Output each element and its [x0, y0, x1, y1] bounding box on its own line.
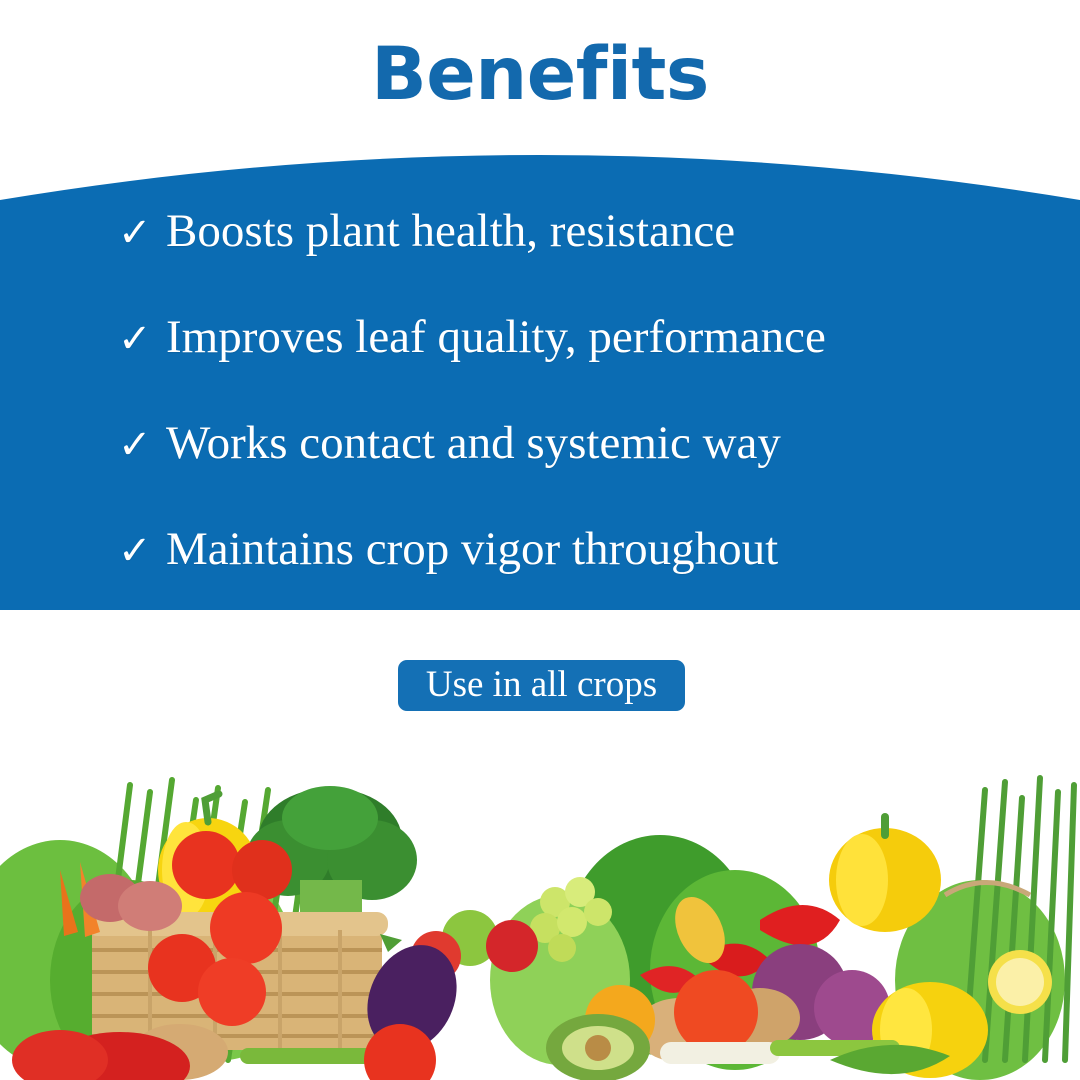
- lemon: [988, 950, 1052, 1014]
- benefit-label: Maintains crop vigor throughout: [166, 526, 778, 573]
- benefit-label: Works contact and systemic way: [166, 420, 781, 467]
- benefit-label: Improves leaf quality, performance: [166, 314, 826, 361]
- list-item: ✓ Works contact and systemic way: [118, 420, 781, 467]
- list-item: ✓ Improves leaf quality, performance: [118, 314, 826, 361]
- list-item: ✓ Maintains crop vigor throughout: [118, 526, 778, 573]
- list-item: ✓ Boosts plant health, resistance: [118, 208, 735, 255]
- check-icon: ✓: [118, 531, 166, 571]
- check-icon: ✓: [118, 425, 166, 465]
- produce-photo: [0, 730, 1080, 1080]
- page-title: Benefits: [0, 38, 1080, 111]
- benefits-poster: Benefits ✓ Boosts plant health, resistan…: [0, 0, 1080, 1080]
- avocado: [546, 1014, 650, 1080]
- use-in-all-crops-badge: Use in all crops: [398, 660, 685, 711]
- tomato-large: [674, 970, 758, 1054]
- vegetables-illustration: [0, 730, 1080, 1080]
- check-icon: ✓: [118, 319, 166, 359]
- benefits-list: ✓ Boosts plant health, resistance ✓ Impr…: [0, 130, 1080, 610]
- benefit-label: Boosts plant health, resistance: [166, 208, 735, 255]
- check-icon: ✓: [118, 213, 166, 253]
